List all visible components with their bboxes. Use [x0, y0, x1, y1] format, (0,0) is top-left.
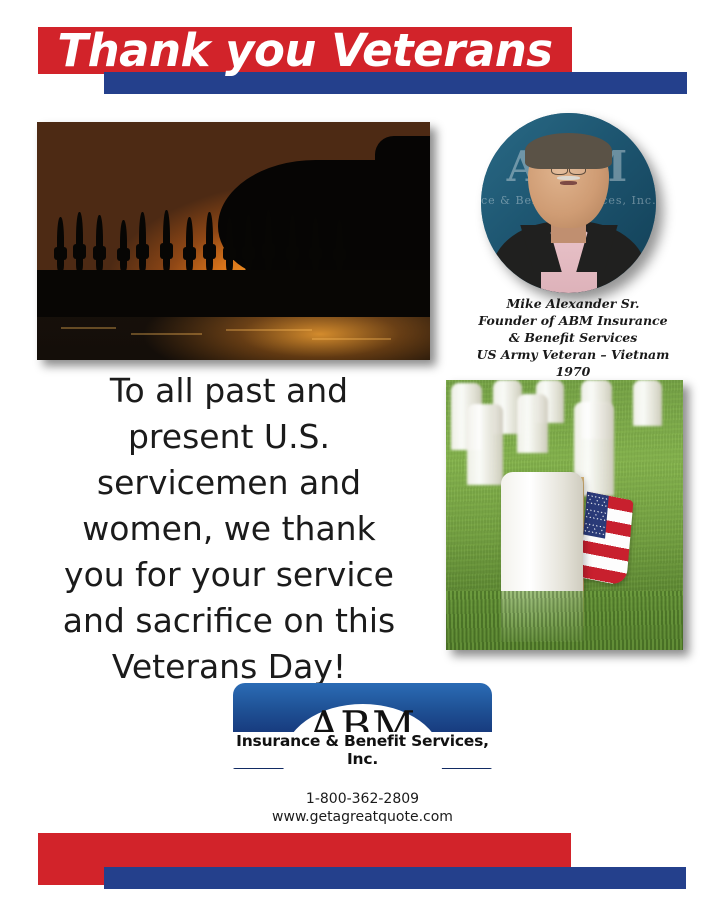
website-url: www.getagreatquote.com: [233, 808, 492, 826]
soldier-silhouette: [139, 212, 146, 269]
footer-blue-bar: [104, 867, 686, 889]
contact-info: 1-800-362-2809 www.getagreatquote.com: [233, 790, 492, 826]
message-line: you for your service: [28, 552, 430, 598]
message-line: servicemen and: [28, 460, 430, 506]
phone-number: 1-800-362-2809: [233, 790, 492, 808]
mouth: [560, 181, 576, 185]
aircraft-tail-silhouette: [375, 136, 430, 198]
background-headstone: [467, 404, 503, 485]
flag-canton-stars: [584, 492, 609, 539]
portrait-caption: Mike Alexander Sr. Founder of ABM Insura…: [458, 295, 688, 380]
message-line: women, we thank: [28, 506, 430, 552]
message-line: To all past and: [28, 368, 430, 414]
soldier-silhouette: [312, 217, 319, 269]
soldier-silhouette: [206, 212, 213, 269]
background-headstone: [517, 394, 548, 453]
soldier-silhouette: [76, 212, 83, 269]
water-streak: [312, 338, 391, 340]
background-headstone: [633, 380, 661, 426]
cemetery-headstone-photo: [446, 380, 683, 650]
message-text: To all past and present U.S. servicemen …: [28, 368, 430, 690]
soldier-silhouette: [336, 220, 343, 270]
mustache: [557, 176, 580, 181]
foreground-grass: [446, 591, 683, 650]
soldier-silhouette: [226, 217, 233, 269]
veterans-day-flyer: Thank you Veterans ABM ce & Benefit Serv: [0, 0, 722, 922]
water-streak: [131, 333, 202, 335]
soldier-silhouette: [186, 217, 193, 269]
caption-line: & Benefit Services: [458, 329, 688, 346]
message-line: and sacrifice on this: [28, 598, 430, 644]
water-streak: [61, 327, 116, 329]
water-reflection: [37, 317, 430, 360]
caption-line: Founder of ABM Insurance: [458, 312, 688, 329]
soldier-silhouette: [265, 210, 272, 270]
message-line: present U.S.: [28, 414, 430, 460]
logo-tagline: Insurance & Benefit Services, Inc.: [231, 732, 494, 768]
water-streak: [226, 329, 312, 331]
caption-line: US Army Veteran – Vietnam 1970: [458, 346, 688, 380]
soldier-silhouette: [289, 215, 296, 270]
founder-portrait-photo: ABM ce & Benefit Services, Inc.: [481, 113, 656, 293]
page-title: Thank you Veterans: [38, 20, 572, 82]
soldier-silhouette: [57, 217, 64, 269]
hair: [525, 133, 613, 169]
soldiers-boarding-plane-photo: [37, 122, 430, 360]
soldier-silhouette: [120, 220, 127, 270]
soldier-silhouette: [245, 215, 252, 270]
runway-ground: [37, 270, 430, 318]
caption-line: Mike Alexander Sr.: [458, 295, 688, 312]
abm-logo: ABM Insurance & Benefit Services, Inc.: [233, 683, 492, 769]
soldier-silhouette: [96, 215, 103, 270]
soldier-silhouette: [163, 210, 170, 270]
american-flag-icon: [580, 492, 634, 587]
